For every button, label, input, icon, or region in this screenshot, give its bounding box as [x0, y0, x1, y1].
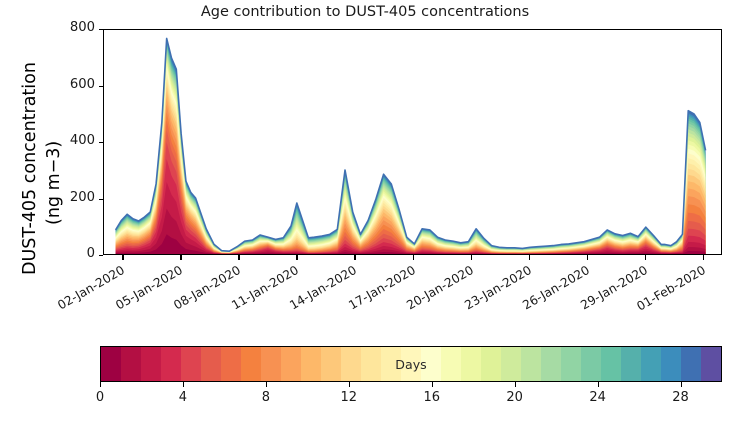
colorbar[interactable]: [100, 346, 722, 382]
colorbar-band: [121, 347, 141, 381]
colorbar-band: [421, 347, 441, 381]
colorbar-tick-mark: [598, 382, 599, 387]
y-tick-label: 400: [55, 133, 95, 148]
y-tick-mark: [99, 255, 103, 256]
colorbar-band: [521, 347, 541, 381]
colorbar-band: [161, 347, 181, 381]
colorbar-tick-label: 16: [412, 390, 452, 405]
colorbar-tick-mark: [432, 382, 433, 387]
colorbar-band: [281, 347, 301, 381]
x-tick-mark: [529, 255, 530, 260]
colorbar-band: [261, 347, 281, 381]
x-tick-mark: [413, 255, 414, 260]
x-tick-mark: [354, 255, 355, 260]
colorbar-band: [241, 347, 261, 381]
colorbar-band: [501, 347, 521, 381]
y-axis-label-line2: (ng m−3): [44, 141, 64, 225]
x-tick-mark: [587, 255, 588, 260]
y-tick-label: 600: [55, 77, 95, 92]
x-tick-mark: [645, 255, 646, 260]
total-outline: [116, 38, 706, 251]
x-tick-mark: [471, 255, 472, 260]
colorbar-band: [401, 347, 421, 381]
colorbar-tick-label: 8: [246, 390, 286, 405]
colorbar-band: [681, 347, 701, 381]
colorbar-band: [201, 347, 221, 381]
stacked-area-series: [104, 30, 721, 254]
colorbar-band: [541, 347, 561, 381]
x-tick-mark: [703, 255, 704, 260]
colorbar-band: [361, 347, 381, 381]
x-tick-mark: [180, 255, 181, 260]
colorbar-tick-label: 0: [80, 390, 120, 405]
colorbar-tick-mark: [681, 382, 682, 387]
x-tick-mark: [122, 255, 123, 260]
colorbar-band: [481, 347, 501, 381]
x-tick-mark: [238, 255, 239, 260]
colorbar-tick-label: 28: [661, 390, 701, 405]
colorbar-tick-label: 12: [329, 390, 369, 405]
y-axis-label-group: DUST-405 concentration (ng m−3): [0, 29, 44, 255]
colorbar-band: [561, 347, 581, 381]
colorbar-tick-label: 20: [495, 390, 535, 405]
colorbar-band: [381, 347, 401, 381]
chart-title: Age contribution to DUST-405 concentrati…: [0, 4, 730, 20]
colorbar-band: [221, 347, 241, 381]
colorbar-tick-label: 4: [163, 390, 203, 405]
colorbar-band: [101, 347, 121, 381]
plot-area[interactable]: [103, 29, 722, 255]
colorbar-band: [701, 347, 721, 381]
colorbar-tick-label: 24: [578, 390, 618, 405]
colorbar-tick-mark: [100, 382, 101, 387]
colorbar-band: [621, 347, 641, 381]
colorbar-tick-mark: [515, 382, 516, 387]
colorbar-band: [461, 347, 481, 381]
colorbar-band: [601, 347, 621, 381]
y-axis-label-line1: DUST-405 concentration: [20, 62, 40, 275]
colorbar-band: [441, 347, 461, 381]
colorbar-band: [661, 347, 681, 381]
colorbar-band: [141, 347, 161, 381]
y-tick-label: 0: [55, 246, 95, 261]
colorbar-tick-mark: [183, 382, 184, 387]
x-tick-mark: [296, 255, 297, 260]
colorbar-band: [581, 347, 601, 381]
colorbar-tick-mark: [349, 382, 350, 387]
y-tick-label: 200: [55, 190, 95, 205]
colorbar-band: [301, 347, 321, 381]
colorbar-band: [641, 347, 661, 381]
colorbar-band: [181, 347, 201, 381]
colorbar-band: [341, 347, 361, 381]
figure-canvas: Age contribution to DUST-405 concentrati…: [0, 0, 730, 425]
colorbar-tick-mark: [266, 382, 267, 387]
y-tick-label: 800: [55, 20, 95, 35]
colorbar-band: [321, 347, 341, 381]
